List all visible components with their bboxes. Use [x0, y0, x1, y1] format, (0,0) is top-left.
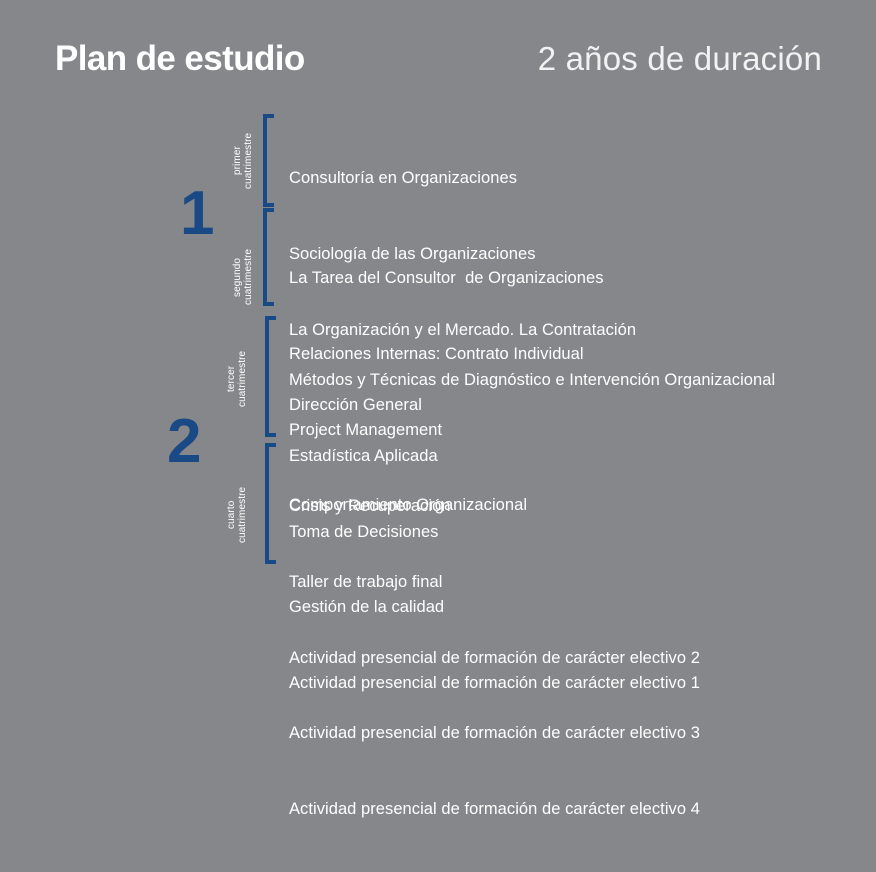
page-header: Plan de estudio 2 años de duración: [0, 0, 876, 100]
semester-label-line2: cuatrimestre: [243, 241, 254, 313]
semester-label-line2: cuatrimestre: [243, 130, 254, 192]
semester-label-line1: tercer: [226, 348, 237, 410]
course-item: Actividad presencial de formación de car…: [289, 646, 700, 671]
semester-label-line1: segundo: [232, 241, 243, 313]
course-item: Crisis y Recuperación: [289, 494, 700, 519]
semester-label-2: segundo cuatrimestre: [232, 241, 254, 313]
course-item: Taller de trabajo final: [289, 570, 700, 595]
course-item: Actividad presencial de formación de car…: [289, 797, 700, 822]
semester-label-line1: cuarto: [226, 484, 237, 546]
course-item: Actividad presencial de formación de car…: [289, 721, 700, 746]
semester-label-line1: primer: [232, 130, 243, 192]
bracket-semester-4: [265, 443, 276, 564]
semester-label-line2: cuatrimestre: [237, 348, 248, 410]
page-title: Plan de estudio: [55, 39, 305, 79]
course-item: La Tarea del Consultor de Organizaciones: [289, 266, 604, 291]
course-list-4: Crisis y Recuperación Taller de trabajo …: [289, 444, 700, 872]
bracket-semester-2: [263, 208, 274, 306]
course-item: Consultoría en Organizaciones: [289, 166, 636, 191]
duration-subtitle: 2 años de duración: [538, 40, 822, 78]
year-marker-1: 1: [180, 183, 213, 245]
semester-label-4: cuarto cuatrimestre: [226, 484, 248, 546]
semester-label-1: primer cuatrimestre: [232, 130, 254, 192]
course-item: Métodos y Técnicas de Diagnóstico e Inte…: [289, 368, 775, 393]
semester-label-line2: cuatrimestre: [237, 484, 248, 546]
bracket-semester-1: [263, 114, 274, 207]
semester-label-3: tercer cuatrimestre: [226, 348, 248, 410]
bracket-semester-3: [265, 316, 276, 437]
year-marker-2: 2: [167, 411, 200, 473]
